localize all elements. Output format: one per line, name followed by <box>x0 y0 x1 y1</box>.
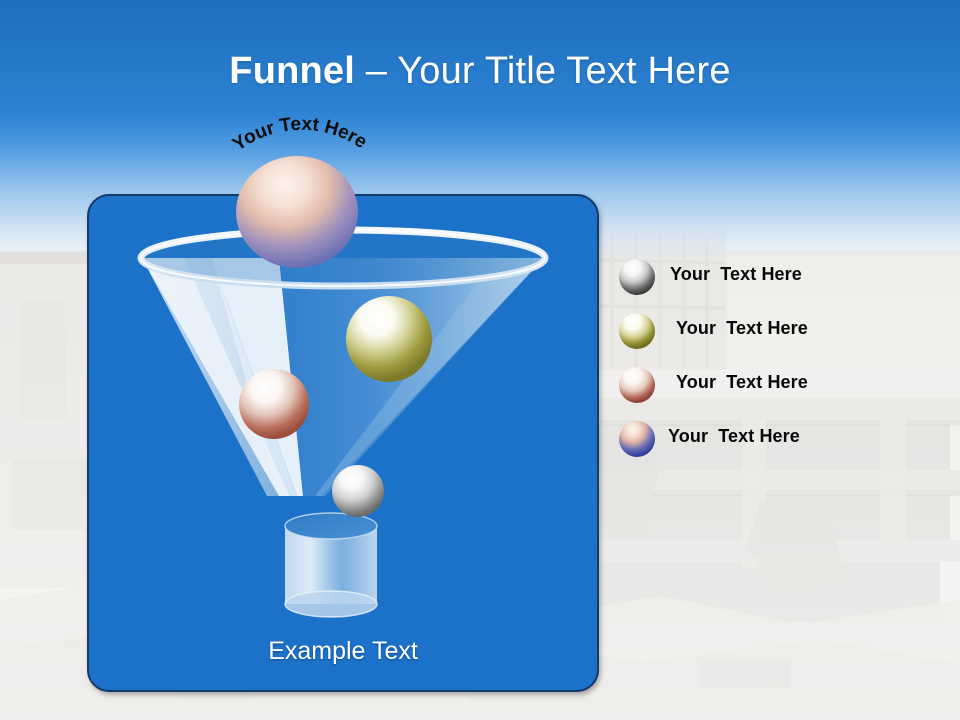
sphere-icon <box>618 366 656 404</box>
sphere-icon <box>618 258 656 296</box>
top-sphere-shape <box>236 156 358 268</box>
slide-canvas: Funnel – Your Title Text Here Your Text … <box>0 0 960 720</box>
legend-item-label: Your Text Here <box>668 426 800 447</box>
red-sphere <box>239 369 309 439</box>
legend-item[interactable]: Your Text Here <box>618 258 938 312</box>
top-sphere <box>235 155 359 269</box>
page-title: Funnel – Your Title Text Here <box>0 48 960 94</box>
legend-item-label: Your Text Here <box>670 264 802 285</box>
page-title-rest: – Your Title Text Here <box>355 50 731 92</box>
sphere-icon <box>618 420 656 458</box>
legend-item-label: Your Text Here <box>676 318 808 339</box>
page-title-strong: Funnel <box>229 50 355 92</box>
olive-sphere <box>346 296 432 382</box>
legend-item[interactable]: Your Text Here <box>618 366 938 420</box>
legend-item-label: Your Text Here <box>676 372 808 393</box>
sphere-icon <box>618 312 656 350</box>
legend-item[interactable]: Your Text Here <box>618 312 938 366</box>
panel-caption: Example Text <box>89 636 597 666</box>
legend-list: Your Text Here Your Text Here <box>618 258 938 474</box>
legend-item[interactable]: Your Text Here <box>618 420 938 474</box>
gray-sphere <box>332 465 384 517</box>
funnel-diagram <box>89 196 597 690</box>
